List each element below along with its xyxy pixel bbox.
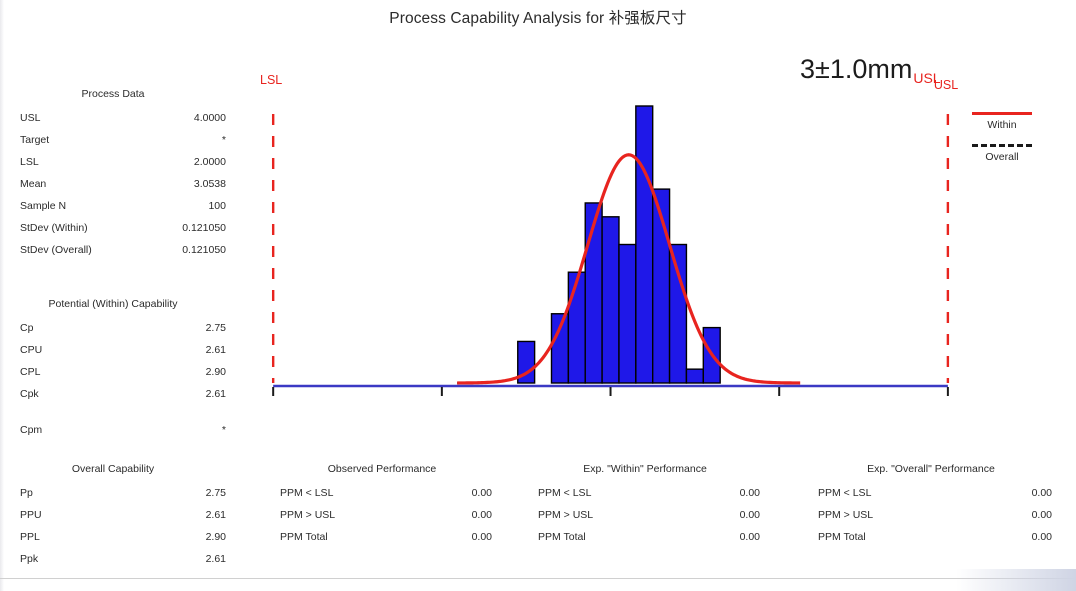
page-title: Process Capability Analysis for 补强板尺寸 [0, 6, 1076, 28]
stat-row: PPL2.90 [0, 526, 232, 548]
stat-row: PPM > USL0.00 [520, 504, 770, 526]
histogram-bar [670, 245, 687, 384]
spec-annotation: 3±1.0mmUSL [800, 56, 941, 85]
stat-label: LSL [20, 151, 39, 173]
stat-value: 2.61 [206, 383, 226, 405]
usl-spec-label: USL [934, 78, 958, 92]
stat-value: 0.00 [740, 482, 760, 504]
stat-value: 100 [208, 195, 226, 217]
row-spacer [0, 405, 232, 419]
histogram-bars [518, 106, 720, 383]
corner-decoration [956, 569, 1076, 591]
stat-row: PPM < LSL0.00 [520, 482, 770, 504]
stat-label: USL [20, 107, 40, 129]
spec-annotation-text: 3±1.0mm [800, 54, 912, 84]
histogram-bar [568, 272, 585, 383]
stat-row: PPU2.61 [0, 504, 232, 526]
legend: Within Overall [966, 108, 1038, 166]
legend-label-within: Within [966, 117, 1038, 134]
stat-label: PPM Total [280, 526, 328, 548]
stat-label: PPM < LSL [280, 482, 333, 504]
overall-capability-title: Overall Capability [0, 463, 232, 475]
exp-within-performance-rows: PPM < LSL0.00PPM > USL0.00PPM Total0.00 [520, 482, 770, 548]
stat-row: Mean3.0538 [0, 173, 232, 195]
histogram-plot: 2.02.53.03.54.0 [258, 100, 958, 400]
stat-value: 0.00 [472, 504, 492, 526]
stat-label: PPM Total [818, 526, 866, 548]
legend-swatch-within [972, 112, 1032, 115]
stat-value: 3.0538 [194, 173, 226, 195]
capability-report: Process Capability Analysis for 补强板尺寸 3±… [0, 0, 1076, 591]
stat-label: PPM < LSL [818, 482, 871, 504]
stat-row: PPM > USL0.00 [262, 504, 502, 526]
exp-overall-performance-title: Exp. "Overall" Performance [800, 463, 1062, 475]
exp-overall-performance-rows: PPM < LSL0.00PPM > USL0.00PPM Total0.00 [800, 482, 1062, 548]
stat-label: Cpm [20, 419, 42, 441]
stat-label: Pp [20, 482, 33, 504]
within-capability-title: Potential (Within) Capability [0, 298, 232, 310]
histogram-bar [636, 106, 653, 383]
lsl-spec-label: LSL [260, 73, 282, 87]
histogram-bar [619, 245, 636, 384]
within-capability-block: Potential (Within) Capability Cp2.75CPU2… [0, 298, 232, 441]
stat-label: Cpk [20, 383, 39, 405]
stat-label: Target [20, 129, 49, 151]
stat-row: PPM Total0.00 [520, 526, 770, 548]
stat-value: 0.00 [1032, 504, 1052, 526]
stat-value: 2.90 [206, 361, 226, 383]
observed-performance-rows: PPM < LSL0.00PPM > USL0.00PPM Total0.00 [262, 482, 502, 548]
stat-label: PPM < LSL [538, 482, 591, 504]
stat-value: 0.00 [740, 526, 760, 548]
histogram-bar [602, 217, 619, 383]
overall-capability-block: Overall Capability Pp2.75PPU2.61PPL2.90P… [0, 463, 232, 570]
stat-label: PPL [20, 526, 40, 548]
stat-row: PPM Total0.00 [800, 526, 1062, 548]
observed-performance-block: Observed Performance PPM < LSL0.00PPM > … [262, 463, 502, 548]
stat-row: Sample N100 [0, 195, 232, 217]
stat-row: Ppk2.61 [0, 548, 232, 570]
stat-value: 0.121050 [182, 239, 226, 261]
overall-capability-rows: Pp2.75PPU2.61PPL2.90Ppk2.61 [0, 482, 232, 570]
stat-value: 2.90 [206, 526, 226, 548]
stat-row: Cpm* [0, 419, 232, 441]
stat-row: Target* [0, 129, 232, 151]
exp-within-performance-block: Exp. "Within" Performance PPM < LSL0.00P… [520, 463, 770, 548]
within-capability-rows: Cp2.75CPU2.61CPL2.90Cpk2.61Cpm* [0, 317, 232, 441]
observed-performance-title: Observed Performance [262, 463, 502, 475]
stat-value: 2.0000 [194, 151, 226, 173]
stat-value: 0.00 [472, 482, 492, 504]
stat-row: StDev (Overall)0.121050 [0, 239, 232, 261]
legend-swatch-overall [972, 144, 1032, 147]
stat-value: * [222, 129, 226, 151]
stat-label: Mean [20, 173, 46, 195]
stat-row: PPM > USL0.00 [800, 504, 1062, 526]
legend-label-overall: Overall [966, 149, 1038, 166]
stat-value: 4.0000 [194, 107, 226, 129]
stat-value: 0.00 [1032, 482, 1052, 504]
stat-value: 0.00 [1032, 526, 1052, 548]
stat-row: LSL2.0000 [0, 151, 232, 173]
stat-label: PPM > USL [538, 504, 593, 526]
stat-row: USL4.0000 [0, 107, 232, 129]
exp-overall-performance-block: Exp. "Overall" Performance PPM < LSL0.00… [800, 463, 1062, 548]
stat-label: StDev (Within) [20, 217, 88, 239]
stat-label: Sample N [20, 195, 66, 217]
stat-label: Cp [20, 317, 33, 339]
stat-label: PPU [20, 504, 42, 526]
stat-value: * [222, 419, 226, 441]
exp-within-performance-title: Exp. "Within" Performance [520, 463, 770, 475]
bottom-divider [0, 578, 1076, 579]
process-data-title: Process Data [0, 88, 232, 100]
stat-value: 2.61 [206, 548, 226, 570]
x-axis: 2.02.53.03.54.0 [265, 386, 957, 400]
stat-label: PPM > USL [818, 504, 873, 526]
stat-label: Ppk [20, 548, 38, 570]
stat-label: StDev (Overall) [20, 239, 92, 261]
histogram-svg: 2.02.53.03.54.0 [258, 100, 958, 400]
stat-row: Cpk2.61 [0, 383, 232, 405]
stat-label: PPM > USL [280, 504, 335, 526]
stat-row: PPM < LSL0.00 [262, 482, 502, 504]
stat-value: 0.00 [740, 504, 760, 526]
stat-row: PPM < LSL0.00 [800, 482, 1062, 504]
process-data-rows: USL4.0000Target*LSL2.0000Mean3.0538Sampl… [0, 107, 232, 261]
stat-row: CPL2.90 [0, 361, 232, 383]
stat-value: 2.61 [206, 504, 226, 526]
stat-label: CPL [20, 361, 40, 383]
process-data-block: Process Data USL4.0000Target*LSL2.0000Me… [0, 88, 232, 261]
stat-row: Pp2.75 [0, 482, 232, 504]
stat-value: 0.121050 [182, 217, 226, 239]
histogram-bar [686, 369, 703, 383]
stat-label: PPM Total [538, 526, 586, 548]
stat-value: 2.61 [206, 339, 226, 361]
stat-label: CPU [20, 339, 42, 361]
stat-value: 2.75 [206, 482, 226, 504]
stat-value: 2.75 [206, 317, 226, 339]
stat-row: PPM Total0.00 [262, 526, 502, 548]
stat-row: Cp2.75 [0, 317, 232, 339]
stat-value: 0.00 [472, 526, 492, 548]
stat-row: StDev (Within)0.121050 [0, 217, 232, 239]
stat-row: CPU2.61 [0, 339, 232, 361]
